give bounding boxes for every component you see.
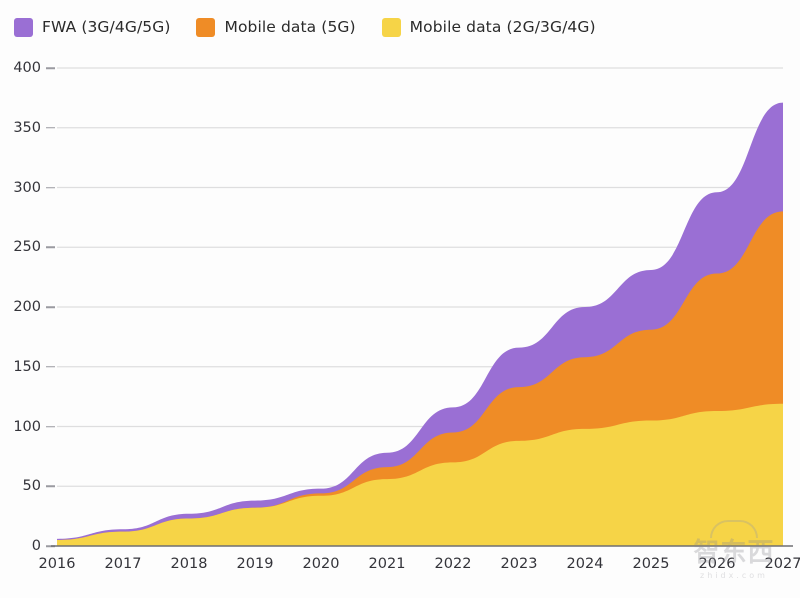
- y-axis-tick-mark: [46, 67, 55, 69]
- stacked-area-chart: FWA (3G/4G/5G) Mobile data (5G) Mobile d…: [0, 0, 800, 598]
- y-axis-tick-label: 350: [13, 120, 41, 136]
- x-axis: 2016201720182019202020212022202320242025…: [0, 556, 800, 586]
- legend-swatch-5g: [196, 18, 215, 37]
- y-axis-tick-mark: [46, 306, 55, 308]
- x-axis-tick-label: 2024: [567, 556, 604, 572]
- x-axis-tick-label: 2026: [699, 556, 736, 572]
- y-axis-tick-label: 200: [13, 299, 41, 315]
- y-axis-tick-label: 100: [13, 419, 41, 435]
- y-axis-tick-label: 150: [13, 359, 41, 375]
- y-axis-tick-mark: [46, 127, 55, 129]
- x-axis-tick-label: 2022: [435, 556, 472, 572]
- plot-svg: [57, 68, 783, 546]
- legend-item-mobile-data-2g3g4g[interactable]: Mobile data (2G/3G/4G): [382, 18, 596, 37]
- x-axis-tick-label: 2023: [501, 556, 538, 572]
- y-axis-tick-mark: [46, 187, 55, 189]
- x-axis-tick-label: 2027: [765, 556, 800, 572]
- y-axis-tick-mark: [46, 486, 55, 488]
- x-axis-tick-label: 2019: [237, 556, 274, 572]
- legend-swatch-2g3g4g: [382, 18, 401, 37]
- x-axis-tick-label: 2020: [303, 556, 340, 572]
- y-axis-tick-label: 300: [13, 180, 41, 196]
- area-series: [57, 103, 783, 546]
- y-axis-tick-label: 250: [13, 239, 41, 255]
- area-band: [57, 404, 783, 546]
- y-axis: 050100150200250300350400: [0, 0, 52, 598]
- x-axis-tick-label: 2021: [369, 556, 406, 572]
- y-axis-tick-label: 400: [13, 60, 41, 76]
- legend-label-mobile-data-2g3g4g: Mobile data (2G/3G/4G): [410, 18, 596, 36]
- y-axis-tick-mark: [46, 426, 55, 428]
- plot-area: [57, 68, 783, 546]
- x-axis-tick-label: 2017: [105, 556, 142, 572]
- y-axis-tick-mark: [46, 366, 55, 368]
- x-axis-tick-label: 2025: [633, 556, 670, 572]
- y-axis-tick-mark: [46, 247, 55, 249]
- y-axis-tick-label: 0: [32, 538, 41, 554]
- x-axis-tick-label: 2018: [171, 556, 208, 572]
- chart-legend: FWA (3G/4G/5G) Mobile data (5G) Mobile d…: [14, 13, 622, 41]
- legend-label-fwa: FWA (3G/4G/5G): [42, 18, 170, 36]
- legend-item-mobile-data-5g[interactable]: Mobile data (5G): [196, 18, 355, 37]
- x-axis-tick-label: 2016: [39, 556, 76, 572]
- legend-label-mobile-data-5g: Mobile data (5G): [224, 18, 355, 36]
- y-axis-tick-label: 50: [23, 478, 41, 494]
